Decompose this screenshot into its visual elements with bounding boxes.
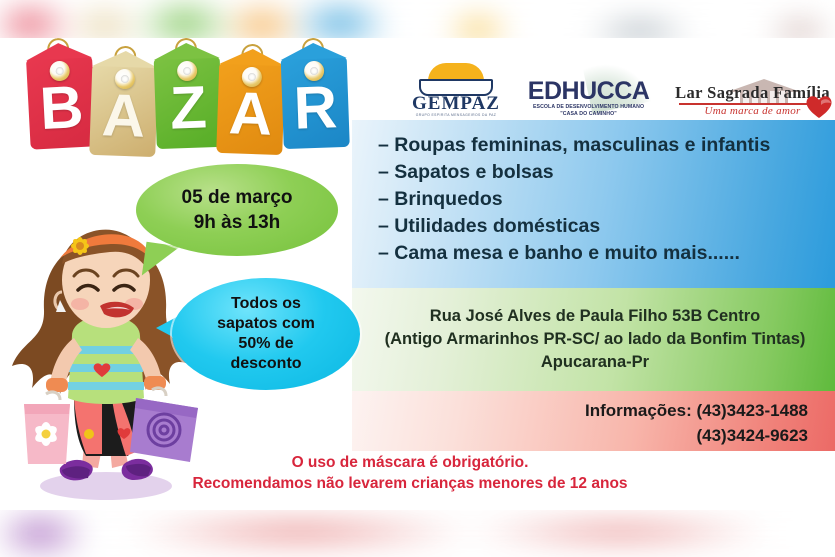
skirt-flower: [84, 429, 94, 439]
book-sun-icon: [419, 63, 493, 93]
contact-phone-2: (43)3424-9623: [400, 423, 808, 448]
blurred-bottom-band: [0, 510, 835, 557]
event-time: 9h às 13h: [194, 212, 281, 234]
discount-line-4: desconto: [230, 355, 301, 373]
logo-gempaz: GEMPAZ GRUPO ESPIRITA MENSAGEIROS DA PAZ: [410, 63, 502, 118]
sponsor-logos: GEMPAZ GRUPO ESPIRITA MENSAGEIROS DA PAZ…: [410, 52, 830, 118]
list-item: – Utilidades domésticas: [378, 213, 828, 240]
date-speech-bubble: 05 de março 9h às 13h: [136, 164, 338, 256]
list-item: – Sapatos e bolsas: [378, 159, 828, 186]
price-tag-r: R: [280, 43, 350, 149]
tag-letter: Z: [154, 77, 222, 139]
heart-icon: [804, 92, 834, 120]
open-book-icon: [419, 79, 493, 93]
price-tag-b: B: [25, 42, 96, 149]
logo-edhucca-line1: ESCOLA DE DESENVOLVIMENTO HUMANO: [524, 104, 653, 111]
pink-shopping-bag: [24, 392, 70, 464]
address-block: Rua José Alves de Paula Filho 53B Centro…: [360, 305, 830, 374]
tag-letter: R: [281, 77, 349, 139]
discount-speech-bubble: Todos os sapatos com 50% de desconto: [172, 278, 360, 390]
event-date: 05 de março: [182, 187, 293, 209]
ground-shadow: [40, 472, 172, 500]
blur-smear-bottom: [0, 510, 835, 557]
logo-edhucca: EDHUCCA ESCOLA DE DESENVOLVIMENTO HUMANO…: [524, 78, 653, 118]
date-bubble-text: 05 de março 9h às 13h: [136, 164, 338, 256]
address-reference: (Antigo Armarinhos PR-SC/ ao lado da Bon…: [360, 328, 830, 351]
discount-line-2: sapatos com: [217, 315, 315, 333]
hand-left: [46, 378, 68, 392]
address-city: Apucarana-Pr: [360, 351, 830, 374]
list-item: – Cama mesa e banho e muito mais......: [378, 240, 828, 267]
blur-smear-top: [0, 0, 835, 38]
logo-gempaz-subtitle: GRUPO ESPIRITA MENSAGEIROS DA PAZ: [410, 113, 502, 118]
tag-letter: B: [27, 76, 96, 139]
discount-line-1: Todos os: [231, 295, 301, 313]
discount-line-3: 50% de: [238, 335, 293, 353]
price-tag-a2: A: [216, 49, 286, 155]
bazar-headline: B A Z A R: [28, 44, 350, 152]
contact-phone-1: Informações: (43)3423-1488: [400, 398, 808, 423]
price-tag-z: Z: [153, 43, 223, 149]
blurred-top-band: [0, 0, 835, 38]
bazar-flyer: B A Z A R: [0, 0, 835, 557]
purple-shopping-bag: [130, 388, 198, 462]
logo-lar-sagrada-familia: Lar Sagrada Família Uma marca de amor: [675, 84, 830, 118]
logo-edhucca-name: EDHUCCA: [524, 78, 653, 104]
address-street: Rua José Alves de Paula Filho 53B Centro: [360, 305, 830, 328]
logo-edhucca-line2: "CASA DO CAMINHO": [524, 111, 653, 118]
contact-block: Informações: (43)3423-1488 (43)3424-9623: [400, 398, 820, 448]
tag-letter: A: [217, 83, 285, 145]
list-item: – Roupas femininas, masculinas e infanti…: [378, 132, 828, 159]
tag-letter: A: [90, 85, 158, 147]
items-list: – Roupas femininas, masculinas e infanti…: [378, 132, 828, 267]
logo-gempaz-name: GEMPAZ: [410, 94, 502, 113]
discount-bubble-text: Todos os sapatos com 50% de desconto: [172, 278, 360, 390]
price-tag-a1: A: [89, 51, 159, 157]
list-item: – Brinquedos: [378, 186, 828, 213]
